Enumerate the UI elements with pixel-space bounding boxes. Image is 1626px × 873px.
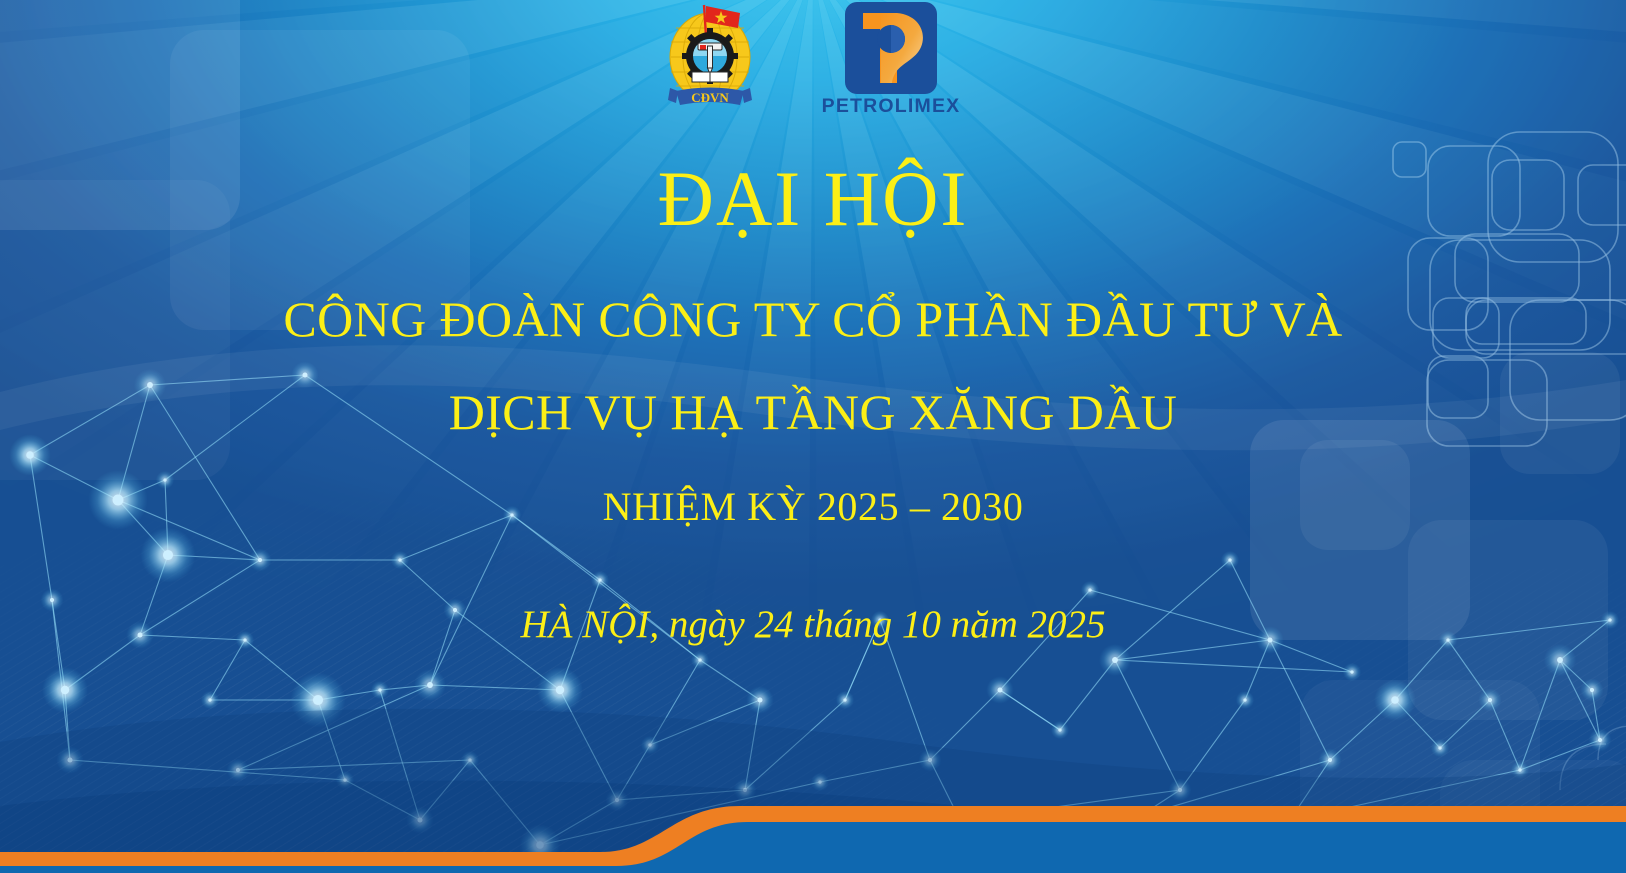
term-line: NHIỆM KỲ 2025 – 2030	[0, 487, 1626, 527]
subtitle-line-1: CÔNG ĐOÀN CÔNG TY CỔ PHẦN ĐẦU TƯ VÀ	[0, 294, 1626, 344]
subtitle-line-2: DỊCH VỤ HẠ TẦNG XĂNG DẦU	[0, 387, 1626, 437]
slide-canvas: CĐVN	[0, 0, 1626, 873]
page-title: ĐẠI HỘI	[0, 160, 1626, 238]
location-date-line: HÀ NỘI, ngày 24 tháng 10 năm 2025	[0, 605, 1626, 644]
